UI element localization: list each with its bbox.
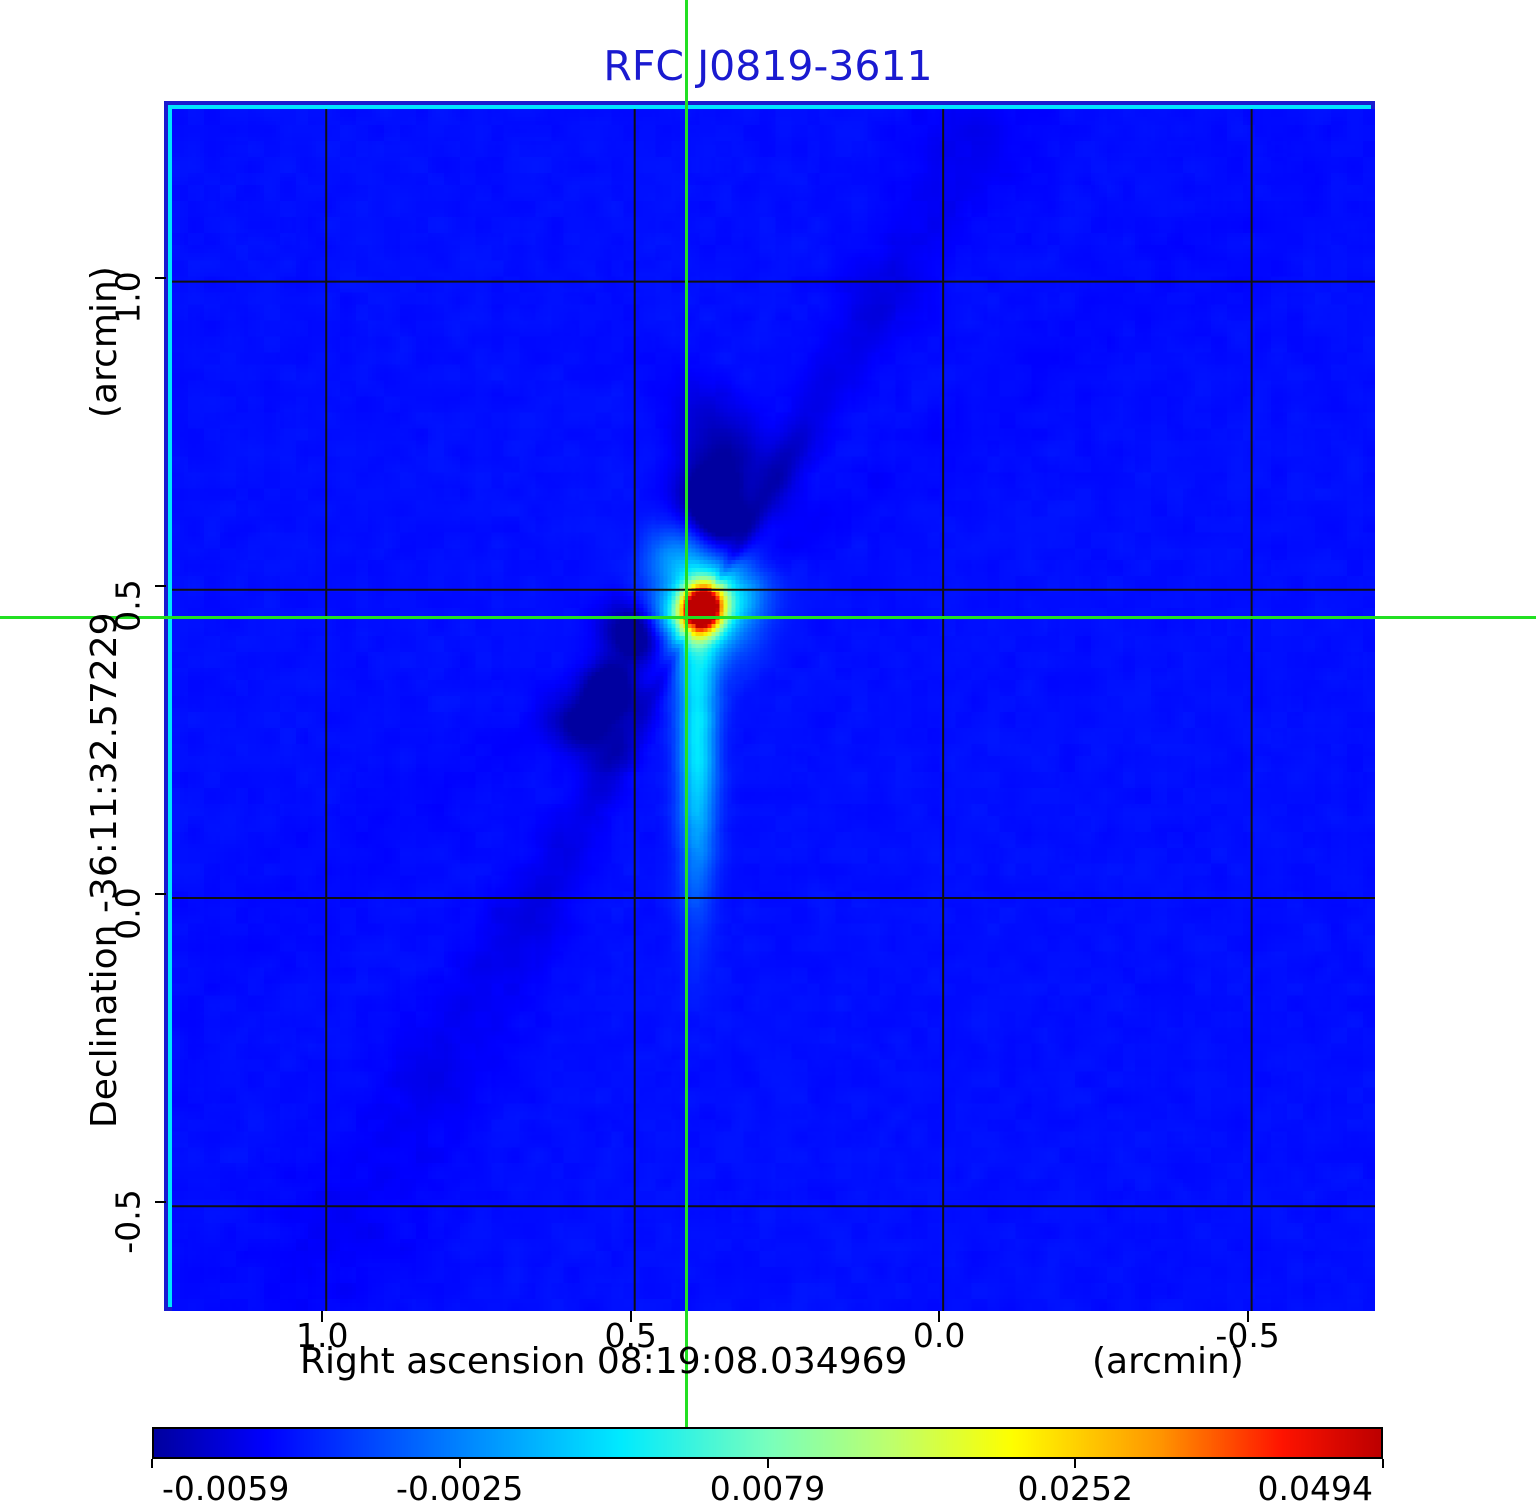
colorbar-gradient [154, 1429, 1381, 1457]
colorbar-tick-label: -0.0025 [396, 1469, 523, 1508]
y-tick-mark [155, 277, 166, 279]
crosshair-horizontal [0, 616, 1536, 619]
y-tick-mark [155, 1201, 166, 1203]
colorbar[interactable] [152, 1427, 1383, 1459]
colorbar-tick-label: -0.0059 [162, 1469, 289, 1508]
colorbar-tick-label: 0.0079 [710, 1469, 825, 1508]
y-axis-title: Declination -36:11:32.57229 [84, 612, 125, 1128]
y-tick-label: -0.5 [109, 1190, 148, 1254]
x-tick-mark [630, 1311, 632, 1322]
image-viewer: RFC J0819-3611 1.00.50.0-0.51.00.50.0-0.… [0, 0, 1536, 1511]
crosshair-vertical [685, 0, 688, 1427]
y-axis-unit: (arcmin) [84, 266, 125, 418]
x-axis-title: Right ascension 08:19:08.034969 [300, 1341, 907, 1382]
y-tick-mark [155, 585, 166, 587]
x-axis-unit: (arcmin) [1092, 1341, 1244, 1382]
x-tick-mark [938, 1311, 940, 1322]
x-tick-mark [321, 1311, 323, 1322]
colorbar-tick-mark [1382, 1459, 1384, 1468]
colorbar-tick-label: 0.0252 [1018, 1469, 1133, 1508]
radio-map-image [172, 109, 1375, 1311]
colorbar-tick-mark [459, 1459, 461, 1468]
colorbar-tick-label: 0.0494 [1258, 1469, 1373, 1508]
x-tick-mark [1247, 1311, 1249, 1322]
colorbar-tick-mark [151, 1459, 153, 1468]
sky-map-plot[interactable] [164, 101, 1375, 1311]
y-tick-mark [155, 893, 166, 895]
colorbar-tick-mark [1074, 1459, 1076, 1468]
page-title: RFC J0819-3611 [0, 42, 1536, 90]
colorbar-tick-mark [767, 1459, 769, 1468]
